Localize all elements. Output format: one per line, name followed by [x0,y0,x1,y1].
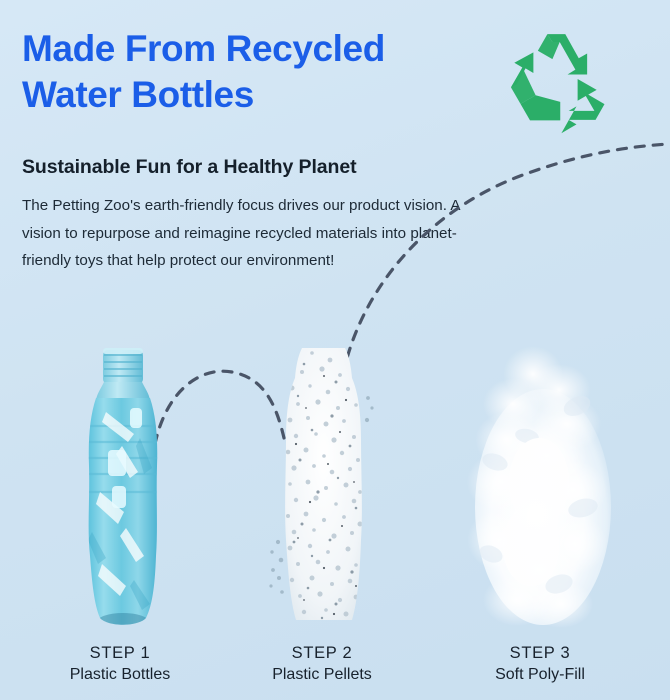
step-1-label: STEP 1 [10,642,230,664]
recycled-bottles-infographic: Made From Recycled Water Bottles Sustain… [0,0,670,700]
dashed-arc-step1-to-step2 [152,371,284,462]
step-2-name: Plastic Pellets [212,664,432,686]
plastic-pellets-image [268,342,378,632]
step-1-name: Plastic Bottles [10,664,230,686]
recycle-icon [505,28,620,140]
poly-fill-image [455,332,630,632]
step-2-label: STEP 2 [212,642,432,664]
plastic-bottle-image [78,342,168,632]
subheading: Sustainable Fun for a Healthy Planet [22,156,492,179]
step-3-label: STEP 3 [430,642,650,664]
step-3-name: Soft Poly-Fill [430,664,650,686]
caption-step-3: STEP 3 Soft Poly-Fill [430,642,650,686]
caption-step-2: STEP 2 Plastic Pellets [212,642,432,686]
body-paragraph: The Petting Zoo's earth-friendly focus d… [22,192,502,275]
bottle-neck [103,348,143,384]
caption-step-1: STEP 1 Plastic Bottles [10,642,230,686]
headline-line-2: Water Bottles [22,72,492,118]
page-title: Made From Recycled Water Bottles [22,26,492,118]
headline-line-1: Made From Recycled [22,26,492,72]
